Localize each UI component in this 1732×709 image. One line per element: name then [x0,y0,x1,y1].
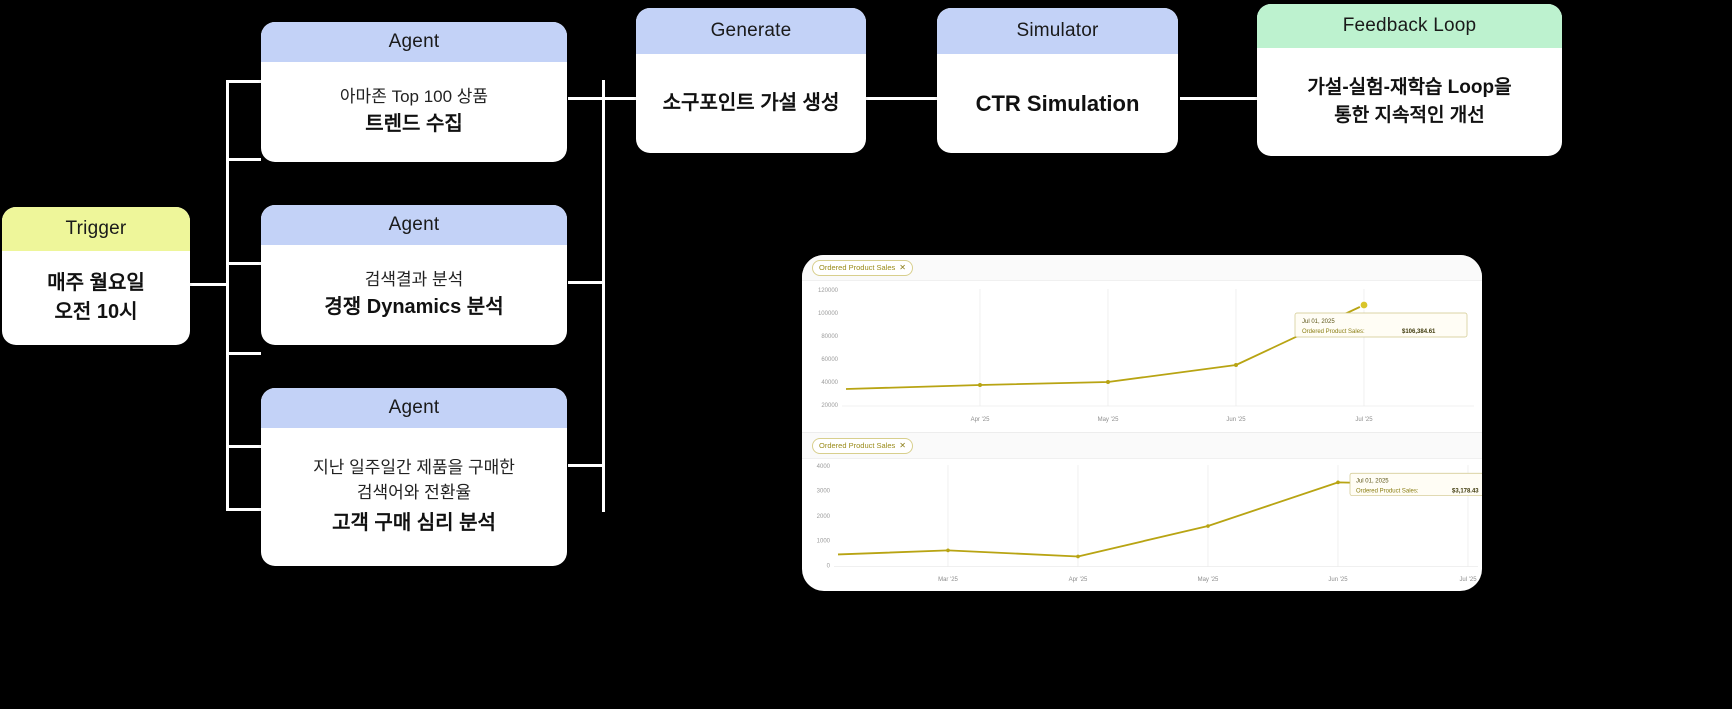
card-agent-psychology-main: 고객 구매 심리 분석 [332,509,496,538]
card-simulator[interactable]: Simulator CTR Simulation [937,8,1178,153]
card-trigger-body: 매주 월요일 오전 10시 [2,251,190,345]
xtick-bottom-0: Mar '25 [938,577,958,583]
card-agent-trend-body: 아마존 Top 100 상품 트렌드 수집 [261,62,567,162]
data-point-bottom-3 [1206,524,1210,528]
chart-top-legend-bar: Ordered Product Sales ✕ [802,255,1482,281]
card-agent-trend-header: Agent [261,22,567,62]
chart-top-svg: 120000 100000 80000 60000 40000 20000 Ap… [802,281,1482,432]
legend-chip-ordered-product-sales[interactable]: Ordered Product Sales ✕ [812,260,913,276]
connector-trigger-to-bus [190,283,228,286]
card-generate[interactable]: Generate 소구포인트 가설 생성 [636,8,866,153]
legend-chip-ordered-product-sales-bottom[interactable]: Ordered Product Sales ✕ [812,438,913,454]
tooltip-bottom-value: $3,178.43 [1452,488,1479,494]
ytick-bottom-0: 0 [827,564,831,570]
card-agent-trend-main: 트렌드 수집 [365,110,463,139]
card-feedback-loop-body: 가설-실험-재학습 Loop을 통한 지속적인 개선 [1257,48,1562,156]
tooltip-top-value: $106,384.61 [1402,329,1436,335]
tooltip-bottom-date: Jul 01, 2025 [1356,478,1389,484]
connector-bus-to-agent3 [226,445,261,448]
connector-agent-bus [226,80,229,508]
card-feedback-loop-line2: 통한 지속적인 개선 [1334,102,1484,130]
ytick-top-1: 100000 [818,311,839,317]
card-feedback-loop-header: Feedback Loop [1257,4,1562,48]
data-point-bottom-2 [1076,555,1080,559]
ytick-top-3: 60000 [821,357,838,363]
card-agent-competition-header: Agent [261,205,567,245]
card-agent-competition-body: 검색결과 분석 경쟁 Dynamics 분석 [261,245,567,345]
card-simulator-header-label: Simulator [1016,20,1098,42]
chart-top-plot: 120000 100000 80000 60000 40000 20000 Ap… [802,281,1482,432]
close-icon[interactable]: ✕ [899,442,906,450]
xtick-bottom-3: Jun '25 [1328,577,1348,583]
xtick-bottom-4: Jul '25 [1459,577,1477,583]
data-point-top-3 [1234,363,1238,367]
card-generate-header: Generate [636,8,866,54]
ytick-top-4: 40000 [821,380,838,386]
card-agent-trend-sub: 아마존 Top 100 상품 [340,85,488,110]
connector-bus-tick-1 [226,158,261,161]
card-simulator-body: CTR Simulation [937,54,1178,153]
xtick-top-2: Jun '25 [1226,417,1246,423]
card-agent-competition-main: 경쟁 Dynamics 분석 [324,293,503,322]
card-agent-psychology[interactable]: Agent 지난 일주일간 제품을 구매한 검색어와 전환율 고객 구매 심리 … [261,388,567,566]
card-feedback-loop-header-label: Feedback Loop [1343,15,1477,37]
card-feedback-loop-line1: 가설-실험-재학습 Loop을 [1307,74,1511,102]
card-generate-header-label: Generate [711,20,792,42]
card-simulator-header: Simulator [937,8,1178,54]
data-point-bottom-4 [1336,481,1340,485]
ytick-top-2: 80000 [821,334,838,340]
card-trigger-header-label: Trigger [66,218,127,240]
card-agent-trend[interactable]: Agent 아마존 Top 100 상품 트렌드 수집 [261,22,567,162]
legend-chip-label-bottom: Ordered Product Sales [819,442,895,450]
card-simulator-main: CTR Simulation [976,88,1140,120]
xtick-bottom-1: Apr '25 [1069,577,1088,583]
card-trigger-line1: 매주 월요일 [47,269,145,298]
card-agent-psychology-header-label: Agent [389,397,440,419]
legend-chip-label: Ordered Product Sales [819,264,895,272]
ytick-bottom-2: 2000 [817,514,831,520]
close-icon[interactable]: ✕ [899,264,906,272]
card-agent-competition-header-label: Agent [389,214,440,236]
data-point-bottom-1 [946,549,950,553]
connector-bus-tick-2 [226,352,261,355]
chart-block-top: Ordered Product Sales ✕ 120000 100000 80… [802,255,1482,432]
chart-bottom-plot: 4000 3000 2000 1000 0 Mar '25 Apr '25 Ma… [802,459,1482,591]
connector-bus-to-agent1 [226,80,261,83]
ytick-top-5: 20000 [821,403,838,409]
card-agent-competition[interactable]: Agent 검색결과 분석 경쟁 Dynamics 분석 [261,205,567,345]
chart-bottom-svg: 4000 3000 2000 1000 0 Mar '25 Apr '25 Ma… [802,459,1482,591]
card-agent-psychology-sub1: 지난 일주일간 제품을 구매한 [313,456,515,481]
card-agent-psychology-sub2: 검색어와 전환율 [357,481,471,506]
xtick-bottom-2: May '25 [1198,577,1219,583]
card-agent-psychology-header: Agent [261,388,567,428]
data-point-top-highlight[interactable] [1360,301,1368,309]
tooltip-bottom-label: Ordered Product Sales: [1356,488,1419,494]
ytick-top-0: 120000 [818,288,839,294]
connector-simulator-to-feedback [1180,97,1258,100]
card-generate-main: 소구포인트 가설 생성 [663,89,840,118]
series-line-top [846,305,1364,389]
xtick-top-0: Apr '25 [971,417,990,423]
card-feedback-loop[interactable]: Feedback Loop 가설-실험-재학습 Loop을 통한 지속적인 개선 [1257,4,1562,156]
connector-agent2-to-right-bus [568,281,604,284]
card-trigger-line2: 오전 10시 [54,298,137,327]
connector-bus-to-agent2 [226,262,261,265]
connector-right-bus [602,80,605,512]
diagram-canvas: Trigger 매주 월요일 오전 10시 Agent 아마존 Top 100 … [0,0,1732,709]
xtick-top-1: May '25 [1098,417,1119,423]
card-agent-trend-header-label: Agent [389,31,440,53]
ytick-bottom-1: 1000 [817,538,831,544]
tooltip-top-date: Jul 01, 2025 [1302,319,1335,325]
card-trigger[interactable]: Trigger 매주 월요일 오전 10시 [2,207,190,345]
ytick-bottom-4: 4000 [817,464,831,470]
data-point-top-1 [978,383,982,387]
dashboard-panel[interactable]: Ordered Product Sales ✕ 120000 100000 80… [802,255,1482,591]
chart-block-bottom: Ordered Product Sales ✕ 4000 3000 2000 1… [802,432,1482,591]
data-point-top-2 [1106,380,1110,384]
card-agent-competition-sub: 검색결과 분석 [365,268,464,293]
chart-bottom-legend-bar: Ordered Product Sales ✕ [802,433,1482,459]
card-agent-psychology-body: 지난 일주일간 제품을 구매한 검색어와 전환율 고객 구매 심리 분석 [261,428,567,566]
xtick-top-3: Jul '25 [1355,417,1373,423]
tooltip-top-label: Ordered Product Sales: [1302,329,1365,335]
ytick-bottom-3: 3000 [817,488,831,494]
card-generate-body: 소구포인트 가설 생성 [636,54,866,153]
connector-agent3-to-right-bus [568,464,604,467]
card-trigger-header: Trigger [2,207,190,251]
connector-bus-tick-3 [226,508,261,511]
connector-generate-to-simulator [865,97,939,100]
connector-right-bus-to-generate [570,97,640,100]
